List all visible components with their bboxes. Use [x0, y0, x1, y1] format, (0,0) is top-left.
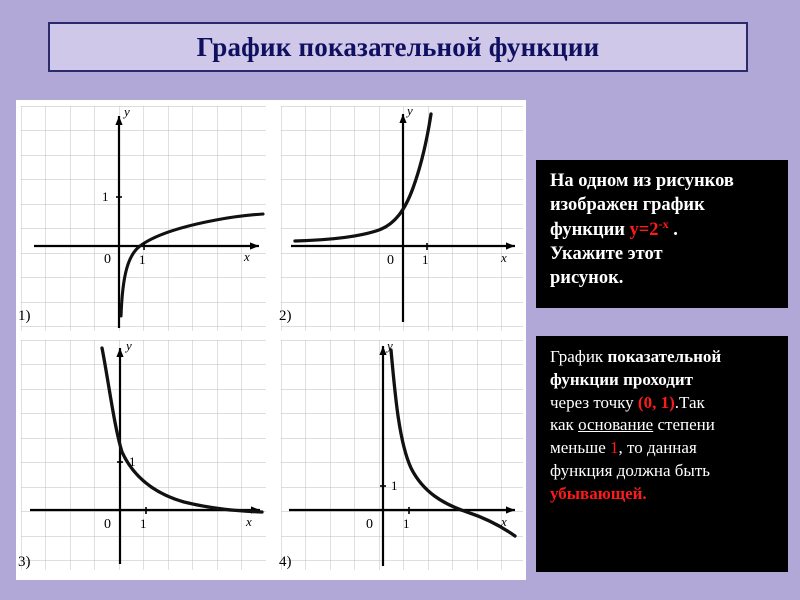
figure-4-x-tick-1: 1 — [403, 516, 410, 531]
figure-3-x-tick-1: 1 — [140, 516, 147, 531]
figure-4-plot: y x 1 0 1 — [279, 336, 526, 580]
explanation-text-fragment: График — [550, 347, 607, 366]
question-line-2: изображен график — [550, 194, 776, 218]
figure-2-plot: y x 0 1 — [279, 100, 526, 336]
figure-4-x-label: x — [500, 514, 507, 529]
figures-panel: y x 1 0 1 1) y x — [16, 100, 526, 580]
figure-3-caption: 3) — [18, 554, 31, 571]
figure-2-x-tick-1: 1 — [422, 252, 429, 267]
question-text-fragment: функции — [550, 221, 630, 241]
figure-4-y-label: y — [385, 338, 393, 353]
question-text-fragment: рисунок. — [550, 268, 623, 288]
explanation-text-fragment: убывающей. — [550, 484, 647, 503]
explanation-text-fragment: показательной — [607, 347, 721, 366]
question-callout-text: На одном из рисунковизображен графикфунк… — [550, 170, 776, 291]
question-text-fragment: изображен график — [550, 195, 705, 215]
explanation-text-fragment: .Так — [675, 393, 705, 412]
explanation-text-fragment: функции проходит — [550, 370, 693, 389]
explanation-callout-text: График показательнойфункции проходитчере… — [550, 346, 776, 505]
explanation-line-3: через точку (0, 1).Так — [550, 392, 776, 415]
figure-4-origin: 0 — [366, 517, 373, 532]
question-text-fragment: На одном из рисунков — [550, 171, 734, 191]
explanation-text-fragment: как — [550, 415, 578, 434]
figure-3: y x 1 0 1 3) — [16, 336, 271, 580]
figure-2-origin: 0 — [387, 253, 394, 268]
explanation-line-2: функции проходит — [550, 369, 776, 392]
figure-1-y-label: y — [122, 104, 130, 119]
explanation-line-5: меньше 1, то данная — [550, 437, 776, 460]
explanation-text-fragment: (0, 1) — [638, 393, 675, 412]
figure-4: y x 1 0 1 4) — [279, 336, 526, 580]
explanation-line-4: как основание степени — [550, 414, 776, 437]
question-text-fragment: -x — [659, 217, 669, 231]
explanation-text-fragment: через точку — [550, 393, 638, 412]
explanation-line-6: функция должна быть — [550, 460, 776, 483]
explanation-text-fragment: степени — [653, 415, 715, 434]
figure-3-plot: y x 1 0 1 — [16, 336, 271, 580]
explanation-text-fragment: основание — [578, 415, 653, 434]
question-line-3: функции y=2-x . — [550, 217, 776, 243]
question-line-4: Укажите этот — [550, 243, 776, 267]
slide-title-box: График показательной функции — [48, 22, 748, 72]
figure-1: y x 1 0 1 1) — [16, 100, 271, 336]
explanation-text-fragment: функция должна быть — [550, 461, 710, 480]
figure-2: y x 0 1 2) — [279, 100, 526, 336]
question-text-fragment: y=2 — [630, 221, 659, 241]
figure-3-y-tick-1: 1 — [129, 454, 136, 469]
explanation-text-fragment: 1 — [610, 438, 619, 457]
figure-2-caption: 2) — [279, 308, 292, 325]
question-text-fragment: Укажите этот — [550, 244, 663, 264]
figure-1-plot: y x 1 0 1 — [16, 100, 271, 336]
explanation-line-1: График показательной — [550, 346, 776, 369]
figure-2-y-label: y — [405, 103, 413, 118]
figure-3-origin: 0 — [104, 517, 111, 532]
explanation-line-7: убывающей. — [550, 483, 776, 506]
figure-1-origin: 0 — [104, 252, 111, 267]
figure-1-y-tick-1: 1 — [102, 189, 109, 204]
explanation-text-fragment: меньше — [550, 438, 610, 457]
figure-3-y-label: y — [124, 338, 132, 353]
page-title: График показательной функции — [197, 32, 600, 63]
figure-1-x-tick-1: 1 — [139, 252, 146, 267]
figure-3-x-label: x — [245, 514, 252, 529]
question-text-fragment: . — [669, 221, 678, 241]
question-callout: На одном из рисунковизображен графикфунк… — [536, 160, 788, 308]
explanation-callout: График показательнойфункции проходитчере… — [536, 336, 788, 572]
figure-4-caption: 4) — [279, 554, 292, 571]
figure-2-x-label: x — [500, 250, 507, 265]
question-line-5: рисунок. — [550, 267, 776, 291]
figure-1-caption: 1) — [18, 308, 31, 325]
figure-4-y-tick-1: 1 — [391, 478, 398, 493]
figure-1-x-label: x — [243, 249, 250, 264]
explanation-text-fragment: , то данная — [619, 438, 697, 457]
question-line-1: На одном из рисунков — [550, 170, 776, 194]
